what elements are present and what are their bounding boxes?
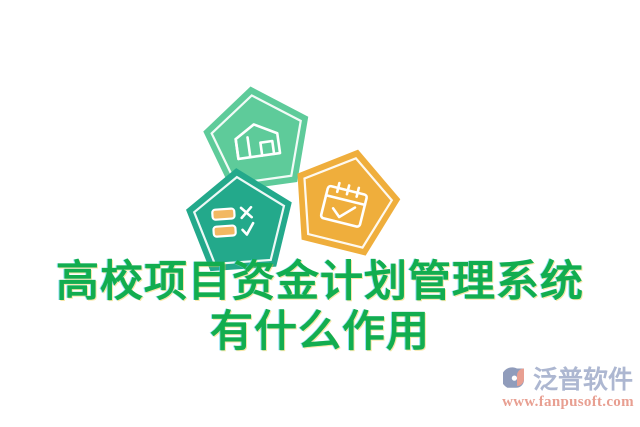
checklist-bar-1	[212, 208, 235, 220]
page-title: 高校项目资金计划管理系统 有什么作用	[0, 258, 640, 358]
title-line-2: 有什么作用	[0, 308, 640, 358]
pentagon-checklist-fill	[183, 164, 296, 272]
fanpu-logo-icon	[503, 365, 531, 393]
checklist-bar-2	[213, 225, 236, 237]
brand-url: www.fanpusoft.com	[502, 394, 634, 411]
brand-name: 泛普软件	[533, 367, 633, 392]
brand-watermark: 泛普软件 www.fanpusoft.com	[500, 363, 636, 415]
title-line-1: 高校项目资金计划管理系统	[0, 258, 640, 308]
brand-watermark-row: 泛普软件	[503, 363, 633, 395]
pentagon-cluster-graphic	[180, 80, 385, 265]
page-canvas: 高校项目资金计划管理系统 有什么作用 泛普软件 www.fanpusoft.co…	[0, 0, 640, 427]
